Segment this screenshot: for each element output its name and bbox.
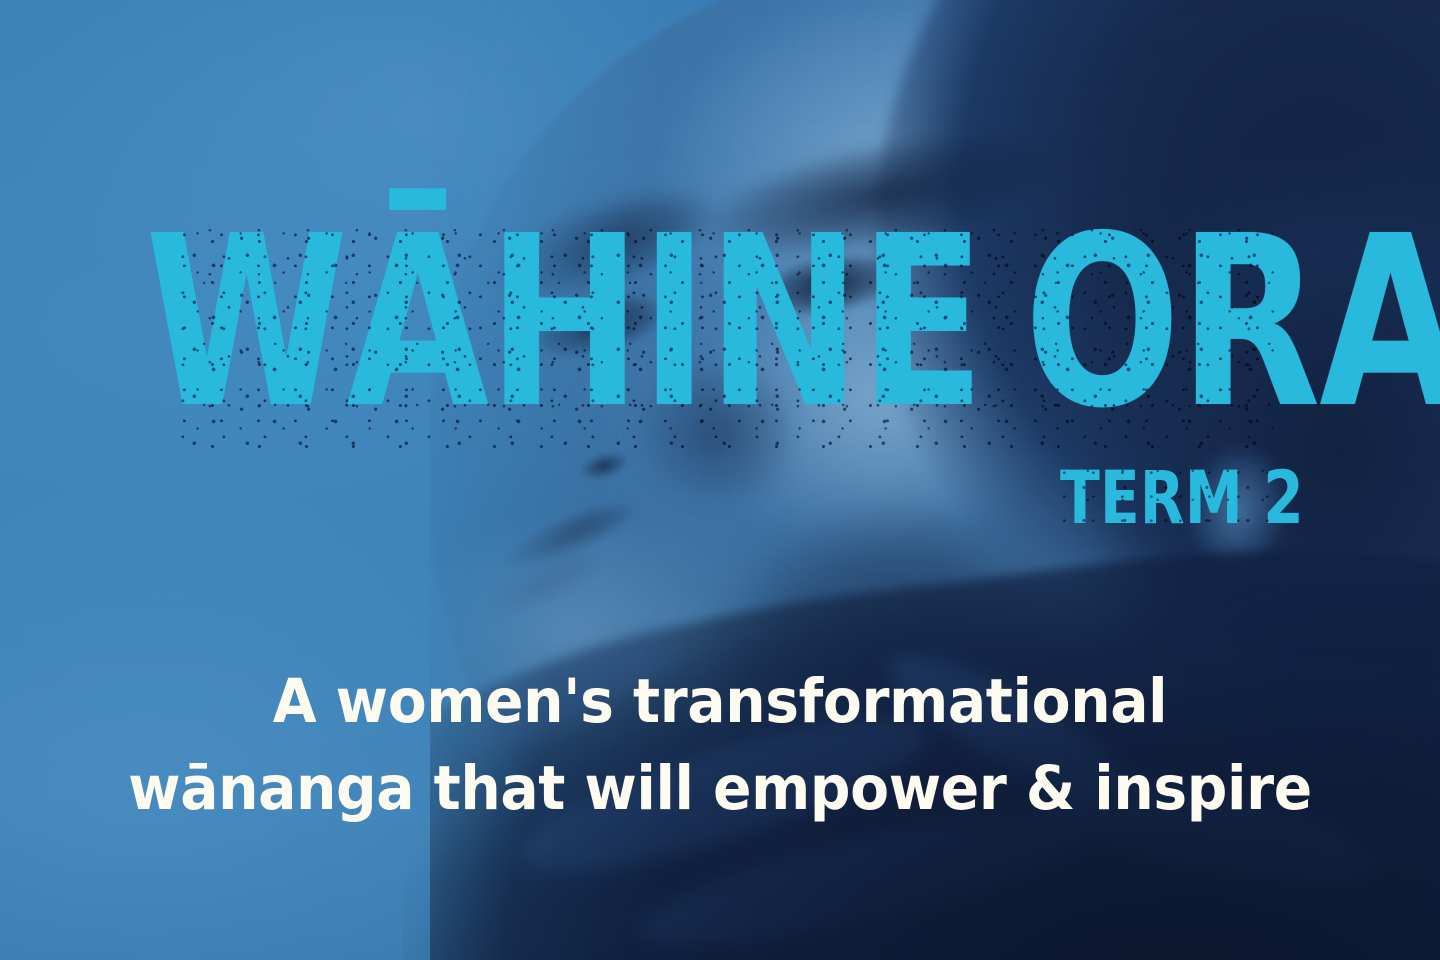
term-label: TERM 2 <box>1060 462 1304 535</box>
headline-word-wahine: WĀHINE <box>145 185 984 460</box>
poster-subtitle: A women's transformational wānanga that … <box>50 659 1389 832</box>
subtitle-line-1: A women's transformational <box>50 659 1389 746</box>
subtitle-line-2: wānanga that will empower & inspire <box>50 746 1389 833</box>
headline-word-ora: ORA <box>1024 185 1440 460</box>
poster-canvas: WĀHINEORA TERM 2 A women's transformatio… <box>0 0 1440 960</box>
poster-headline: WĀHINEORA <box>0 222 1123 425</box>
